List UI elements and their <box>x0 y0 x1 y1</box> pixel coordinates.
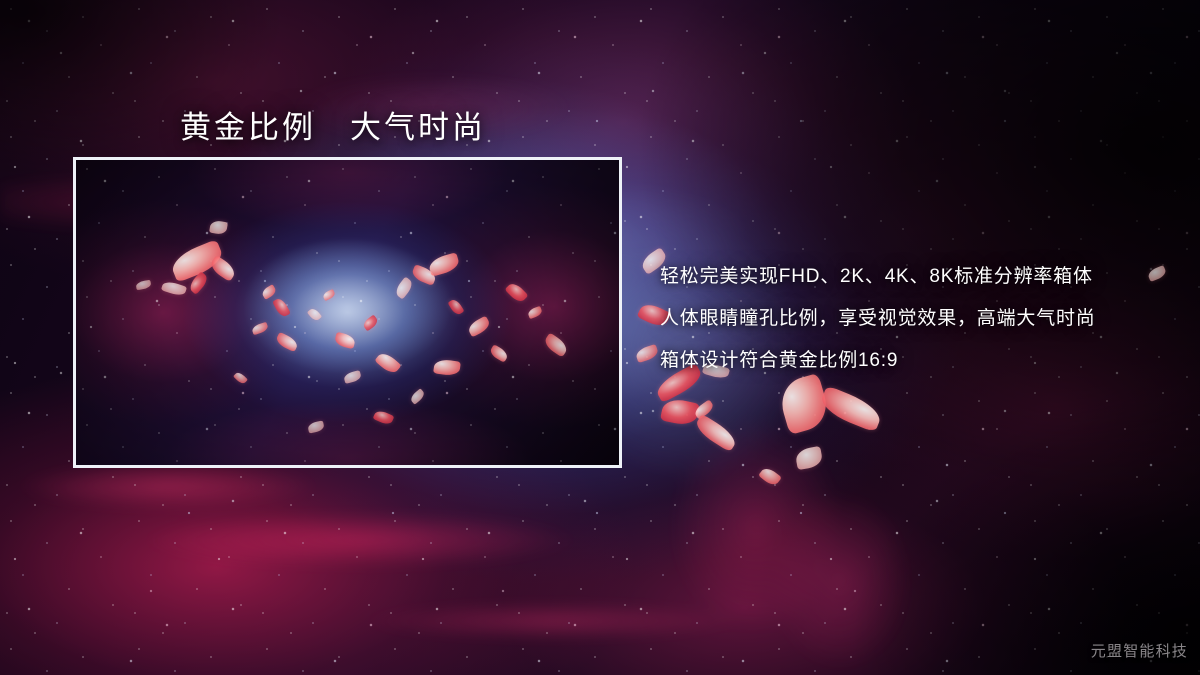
slide-title: 黄金比例 大气时尚 <box>180 102 486 147</box>
body-line-1: 轻松完美实现FHD、2K、4K、8K标准分辨率箱体 <box>660 256 1180 298</box>
presentation-slide: 黄金比例 大气时尚 轻松完美实现FHD、2K、4K、8K标准分辨率箱体 人体眼睛… <box>0 0 1200 675</box>
photo-vignette <box>76 160 619 465</box>
background-petal <box>817 385 884 432</box>
body-line-2: 人体眼睛瞳孔比例，享受视觉效果，高端大气时尚 <box>660 298 1180 340</box>
nebula-petals-photo-frame <box>73 157 622 468</box>
photo-inner <box>76 160 619 465</box>
body-line-3: 箱体设计符合黄金比例16:9 <box>660 340 1180 382</box>
background-petal <box>635 344 660 363</box>
background-petal <box>660 397 700 428</box>
background-petal <box>693 414 740 453</box>
company-watermark: 元盟智能科技 <box>1091 640 1188 661</box>
background-petal <box>758 465 782 488</box>
background-petal <box>794 446 823 470</box>
body-text-block: 轻松完美实现FHD、2K、4K、8K标准分辨率箱体 人体眼睛瞳孔比例，享受视觉效… <box>660 256 1180 382</box>
